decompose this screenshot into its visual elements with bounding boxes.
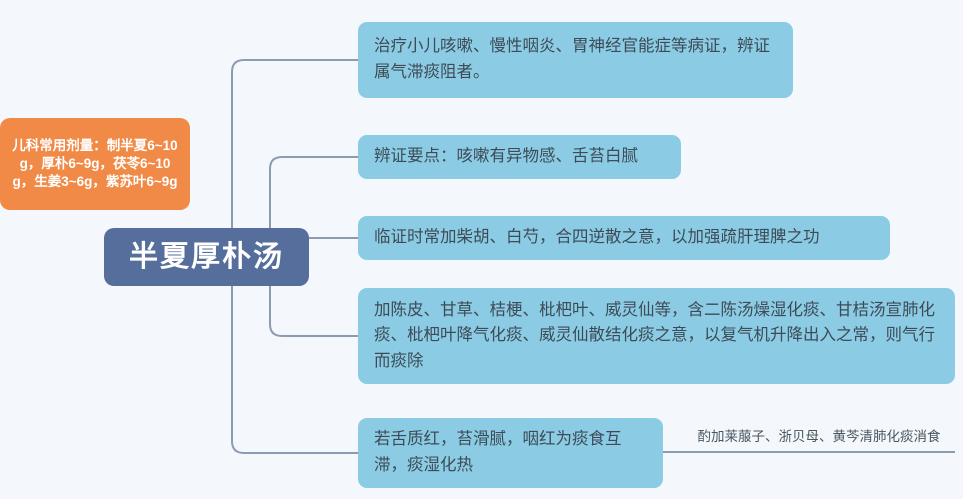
branch-node-3[interactable]: 临证时常加柴胡、白芍，合四逆散之意，以加强疏肝理脾之功 [358,216,890,260]
root-node[interactable]: 半夏厚朴汤 [104,228,309,286]
branch-node-1[interactable]: 治疗小儿咳嗽、慢性咽炎、胃神经官能症等病证，辨证属气滞痰阻者。 [358,22,793,98]
root-node-label: 半夏厚朴汤 [129,243,284,272]
branch-node-2[interactable]: 辨证要点：咳嗽有异物感、舌苔白腻 [358,135,681,179]
branch-node-4[interactable]: 加陈皮、甘草、桔梗、枇杷叶、威灵仙等，含二陈汤燥湿化痰、甘桔汤宣肺化痰、枇杷叶降… [358,288,955,384]
branch-node-2-label: 辨证要点：咳嗽有异物感、舌苔白腻 [374,144,638,170]
branch-node-5[interactable]: 若舌质红，苔滑腻，咽红为痰食互滞，痰湿化热 [358,418,663,488]
connector-branch-5 [232,286,358,453]
branch-node-4-label: 加陈皮、甘草、桔梗、枇杷叶、威灵仙等，含二陈汤燥湿化痰、甘桔汤宣肺化痰、枇杷叶降… [374,298,939,375]
mindmap-canvas: 半夏厚朴汤 儿科常用剂量：制半夏6~10g，厚朴6~9g，茯苓6~10g，生姜3… [0,0,963,499]
branch-node-1-label: 治疗小儿咳嗽、慢性咽炎、胃神经官能症等病证，辨证属气滞痰阻者。 [374,34,777,85]
branch-node-5-label: 若舌质红，苔滑腻，咽红为痰食互滞，痰湿化热 [374,427,647,478]
tail-note-label: 酌加莱菔子、浙贝母、黄芩清肺化痰消食 [683,428,955,446]
dosage-note[interactable]: 儿科常用剂量：制半夏6~10g，厚朴6~9g，茯苓6~10g，生姜3~6g，紫苏… [0,118,190,210]
connector-branch-4 [270,286,358,336]
branch-node-3-label: 临证时常加柴胡、白芍，合四逆散之意，以加强疏肝理脾之功 [374,225,820,251]
dosage-note-label: 儿科常用剂量：制半夏6~10g，厚朴6~9g，茯苓6~10g，生姜3~6g，紫苏… [10,137,180,192]
